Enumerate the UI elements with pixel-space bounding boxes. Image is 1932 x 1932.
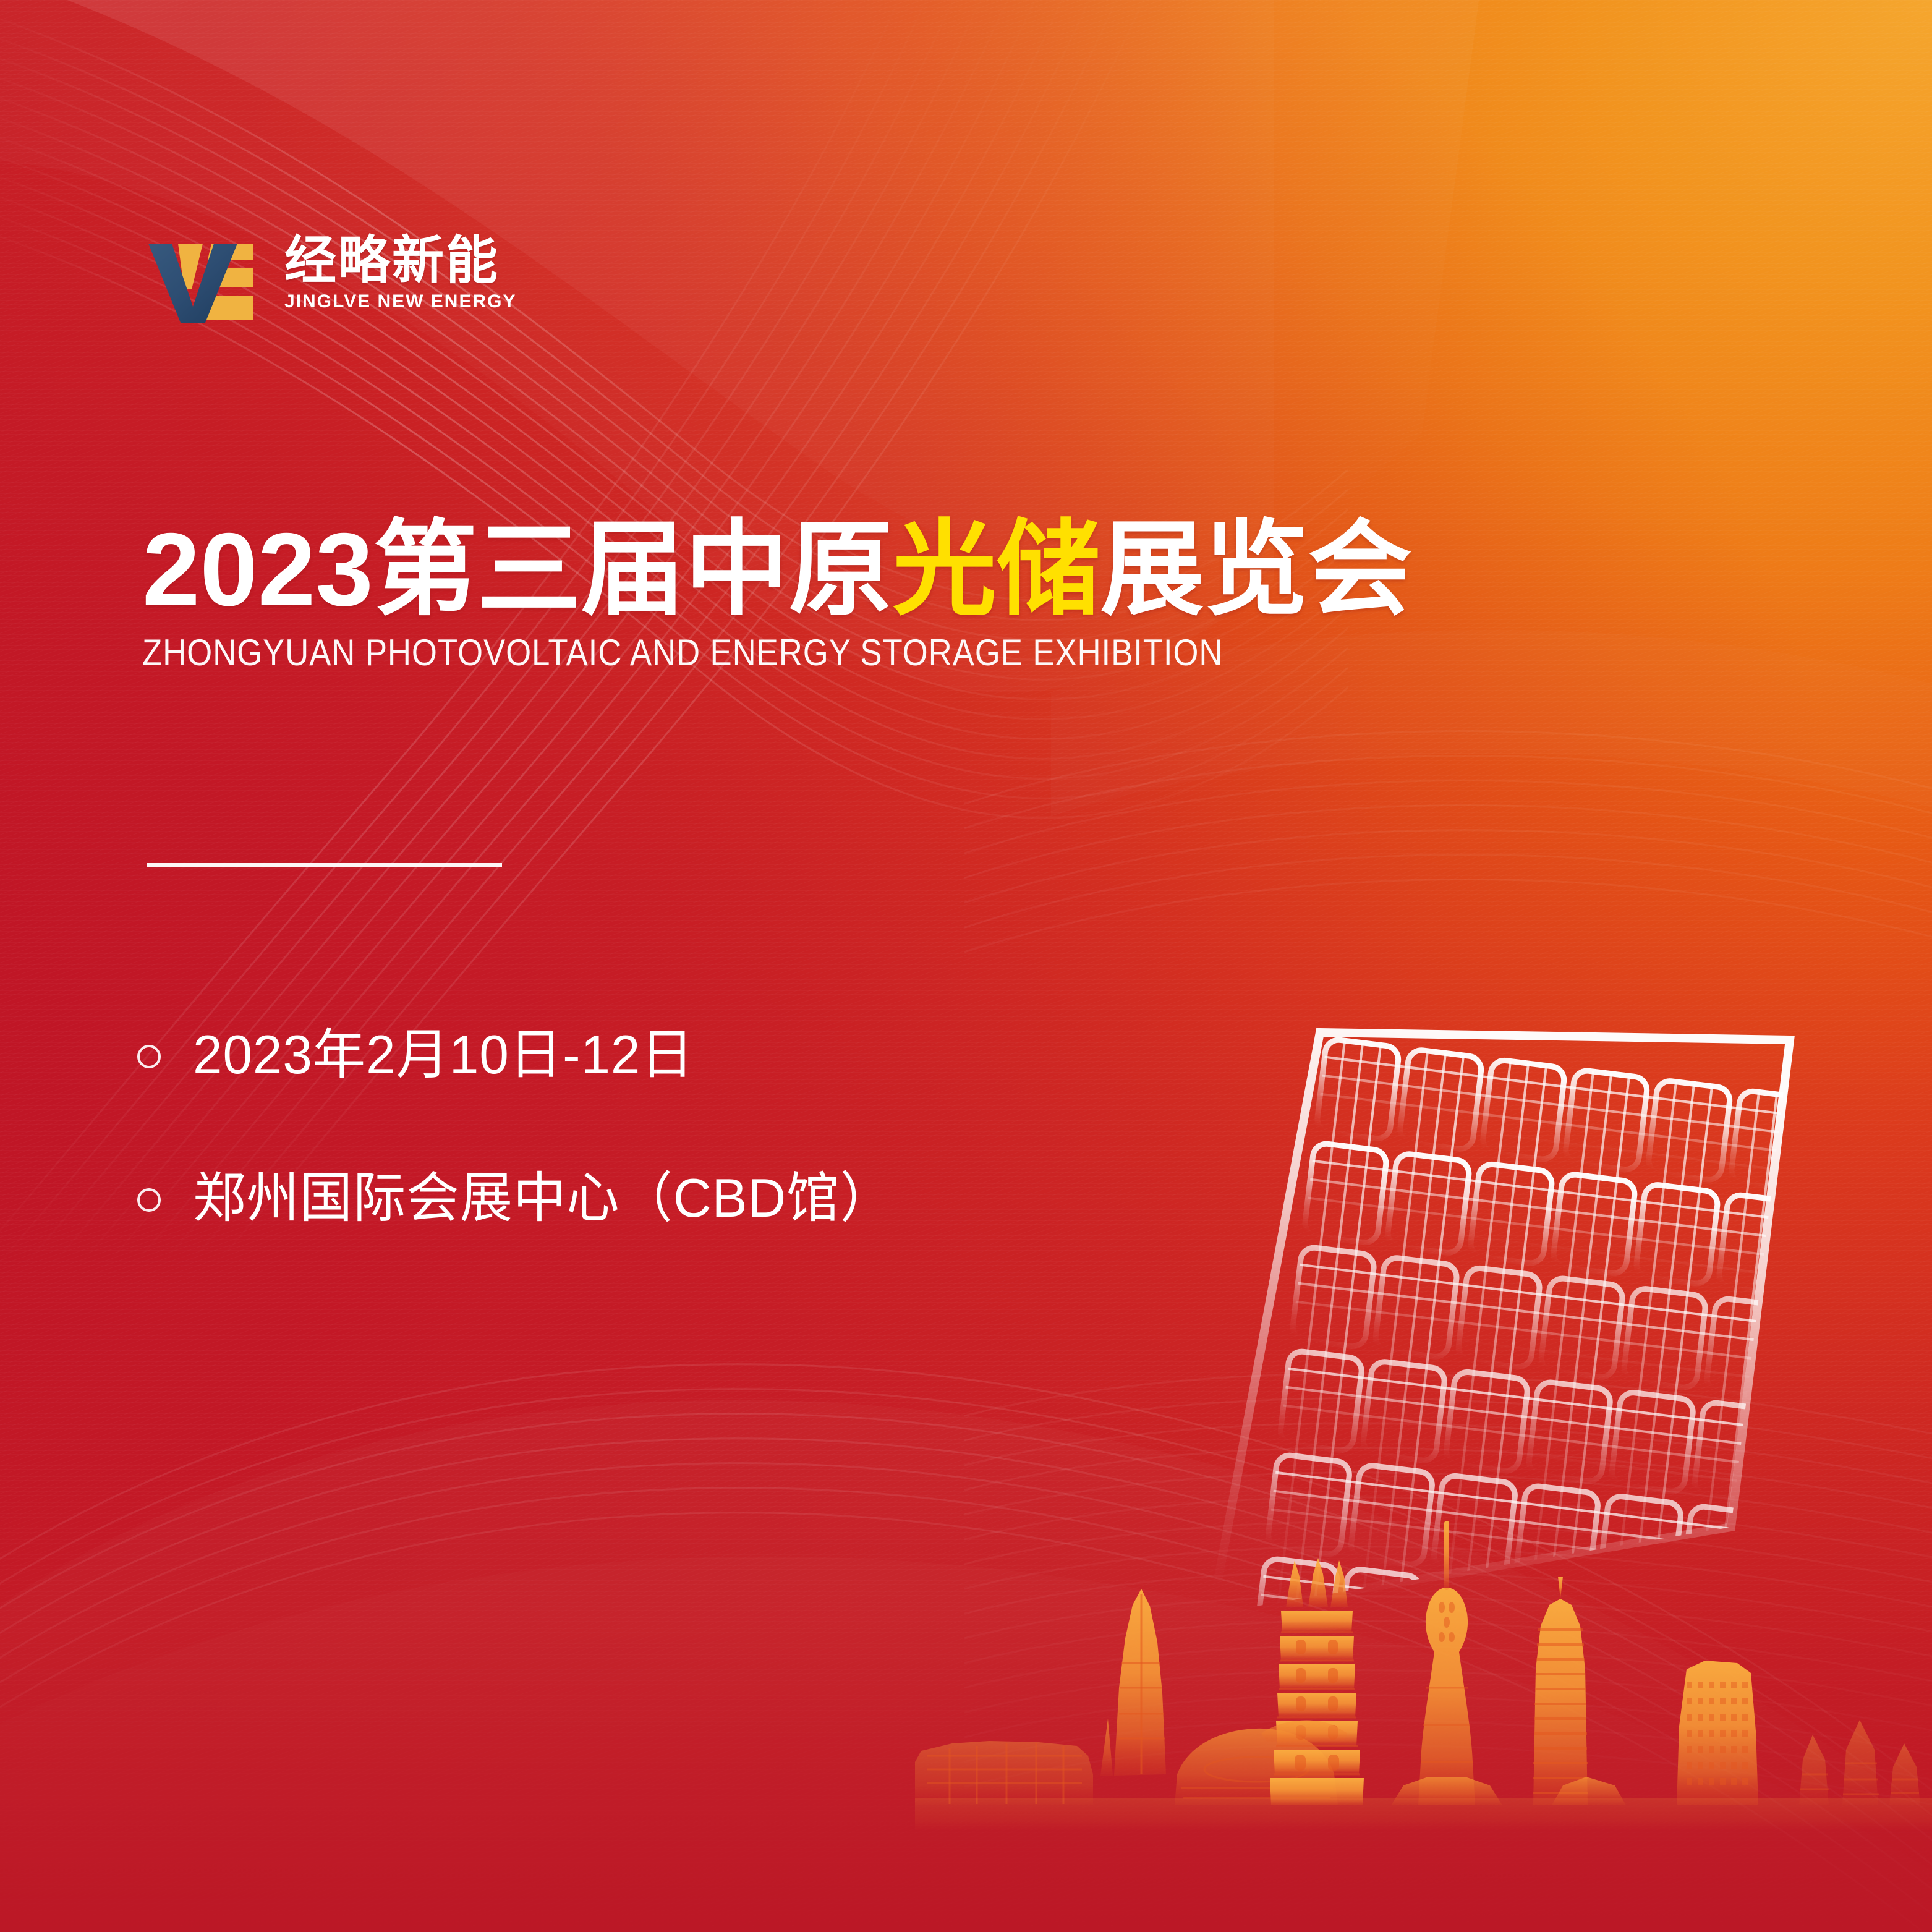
brand-name-en: JINGLVE NEW ENERGY	[284, 291, 517, 312]
zhengzhou-skyline-icon	[915, 1484, 1932, 1830]
brand-name-cn: 经略新能	[284, 234, 517, 287]
ve-monogram-logo-icon	[143, 230, 267, 329]
city-skyline-illustration	[915, 1484, 1932, 1830]
event-venue: 郑州国际会展中心（CBD馆）	[193, 1171, 893, 1225]
list-item: 郑州国际会展中心（CBD馆）	[137, 1161, 915, 1235]
title-part-1: 2023第三届中原	[142, 511, 893, 628]
event-date: 2023年2月10日-12日	[193, 1028, 694, 1082]
brand-wordmark: 经略新能 JINGLVE NEW ENERGY	[284, 230, 517, 312]
brand-logo: 经略新能 JINGLVE NEW ENERGY	[143, 230, 517, 329]
title-block: 2023第三届中原光储展览会 ZHONGYUAN PHOTOVOLTAIC AN…	[142, 517, 1412, 674]
title-highlight: 光储	[893, 511, 1100, 628]
exhibition-poster: 经略新能 JINGLVE NEW ENERGY 2023第三届中原光储展览会 Z…	[0, 0, 1932, 1932]
list-item: 2023年2月10日-12日	[137, 1018, 915, 1092]
event-details-list: 2023年2月10日-12日 郑州国际会展中心（CBD馆）	[137, 1018, 915, 1235]
divider-rule	[147, 863, 502, 867]
page-title: 2023第三届中原光储展览会	[142, 517, 1412, 623]
page-subtitle: ZHONGYUAN PHOTOVOLTAIC AND ENERGY STORAG…	[142, 631, 1259, 674]
circle-bullet-icon	[137, 1188, 161, 1212]
title-part-2: 展览会	[1100, 511, 1412, 628]
circle-bullet-icon	[137, 1045, 161, 1068]
